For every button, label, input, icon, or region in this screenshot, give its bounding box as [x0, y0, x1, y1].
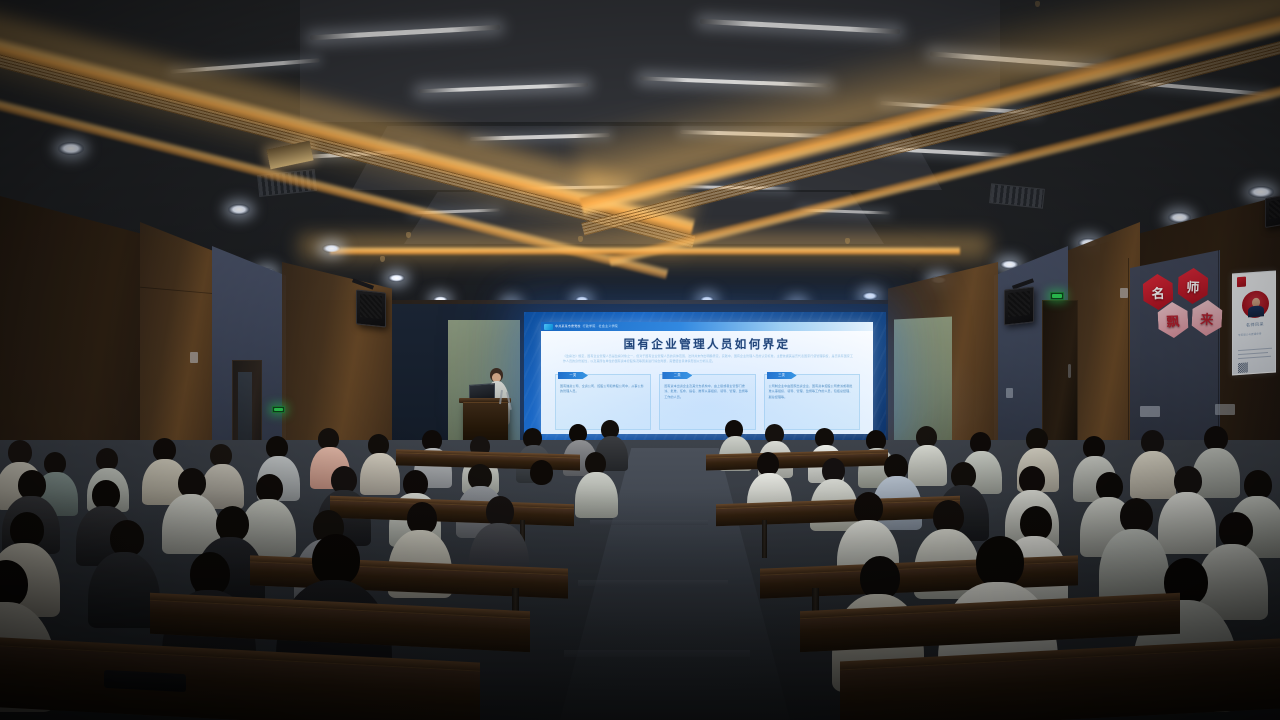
slide-card-row: 一类 国有独资公司、全资公司、控股公司和参股公司中，从事公务的管理人员。 二类 … [555, 374, 860, 430]
audience-body [1158, 492, 1216, 554]
slide-card-3: 三类 公司制企业中由国家出资企业、国有资本控股公司委派或者批准从事组织、领导、管… [764, 374, 860, 430]
audience-body [360, 453, 400, 495]
downlight [388, 274, 405, 282]
poster-qr-code-icon [1238, 362, 1248, 373]
speaker-grille-icon [360, 294, 382, 319]
slide-card-tab-label-1: 一类 [569, 374, 576, 377]
slide-logo-primary-text: 中共某某市委党校 [555, 325, 581, 328]
exit-sign-left [272, 406, 285, 413]
poster-portrait-suit [1248, 305, 1264, 317]
door-handle-right[interactable] [1068, 364, 1071, 378]
slide-body-text: 《监察法》规定，国有企业管理人员是监察对象之一，但对于国有企业管理人员的具体范围… [563, 354, 853, 365]
slide-card-text-3: 公司制企业中由国家出资企业、国有资本控股公司委派或者批准从事组织、领导、管理、监… [769, 384, 855, 400]
slide-card-tab-label-2: 二类 [674, 374, 681, 377]
audience-head [312, 534, 360, 586]
slide-card-tab-1: 一类 [558, 372, 588, 379]
slide-card-2: 二类 国有资本出资企业及其分支机构中，由上级或者主管部门委派、批准、任命、提名、… [659, 374, 755, 430]
wall-sign-hex-char-3: 飘 [1166, 310, 1180, 330]
exit-sign-glow-right [1052, 294, 1062, 298]
exit-sign-right [1050, 292, 1064, 300]
wall-switch-plate-right[interactable] [1120, 288, 1128, 298]
wall-notice-card-right-2 [1215, 404, 1235, 415]
audience-body [1130, 451, 1176, 499]
slide-logo: 中共某某市委党校 行政学院 · 社会主义学院 [544, 323, 618, 330]
poster-text-line [1238, 356, 1271, 359]
poster-text-line [1238, 348, 1272, 351]
wall-switch-plate-far-right[interactable] [1006, 388, 1013, 398]
poster-subtext: 专家简介与授课安排 [1238, 332, 1272, 339]
door-right[interactable] [1042, 300, 1078, 448]
exit-sign-glow-left [274, 408, 283, 411]
audience-head [976, 536, 1024, 588]
slide-card-text-2: 国有资本出资企业及其分支机构中，由上级或者主管部门委派、批准、任命、提名、推荐从… [664, 384, 750, 400]
audience-body [1099, 529, 1169, 603]
wall-sign-hex-char-1: 名 [1151, 282, 1165, 301]
window-strip-left [238, 372, 252, 442]
aisle-step [590, 520, 708, 525]
slide-card-tab-3: 三类 [767, 372, 797, 379]
downlight [862, 292, 878, 300]
stage-wall-trim [392, 300, 888, 304]
poster-logo-icon [1237, 277, 1246, 288]
wall-speaker-left [356, 289, 386, 327]
poster-caption: 名师风采 [1233, 320, 1276, 329]
slide-card-tab-2: 二类 [662, 372, 692, 379]
aisle-step [564, 650, 750, 657]
speaker-grille-icon [1008, 291, 1030, 317]
downlight [58, 142, 84, 155]
wall-sign-hex-char-4: 来 [1200, 308, 1214, 328]
poster-text-line [1238, 352, 1268, 355]
lecture-hall-photo: 名 师 飘 来 名师风采 专家简介与授课安排 中共某某市委党校 [0, 0, 1280, 720]
left-wall-column [140, 222, 216, 472]
wall-sign-hex-char-2: 师 [1186, 276, 1200, 295]
led-presentation-screen: 中共某某市委党校 行政学院 · 社会主义学院 国有企业管理人员如何界定 《监察法… [524, 312, 886, 440]
slide-title: 国有企业管理人员如何界定 [541, 336, 873, 352]
presentation-slide: 中共某某市委党校 行政学院 · 社会主义学院 国有企业管理人员如何界定 《监察法… [541, 322, 873, 434]
downlight [228, 204, 250, 215]
wall-switch-plate[interactable] [190, 352, 198, 363]
slide-card-tab-label-3: 三类 [778, 374, 785, 377]
slide-logo-mark-icon [544, 324, 553, 330]
wall-notice-card-right [1140, 406, 1160, 417]
audience-body [908, 445, 947, 486]
desk-leg [762, 520, 767, 558]
slide-logo-secondary-text: 行政学院 · 社会主义学院 [583, 325, 618, 328]
downlight [322, 244, 341, 253]
audience-body [575, 472, 618, 518]
speaker-grille-icon [1269, 199, 1280, 220]
aisle-step [578, 580, 728, 586]
wall-speaker-right-rear [1265, 194, 1280, 228]
wall-poster: 名师风采 专家简介与授课安排 [1232, 270, 1276, 375]
wall-seam [1128, 258, 1129, 470]
slide-card-text-1: 国有独资公司、全资公司、控股公司和参股公司中，从事公务的管理人员。 [560, 384, 646, 395]
cove-light-back [330, 246, 960, 255]
wall-speaker-right [1004, 286, 1034, 325]
